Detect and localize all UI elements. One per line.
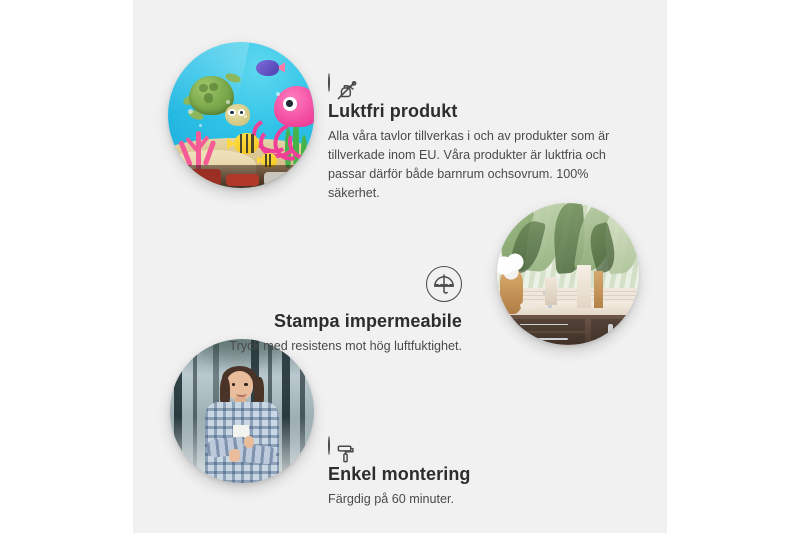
octopus-icon	[256, 86, 314, 153]
feature-title: Stampa impermeabile	[200, 311, 462, 332]
bottle-tall-icon	[577, 265, 591, 308]
image-woman-paint-roller	[170, 339, 314, 483]
paint-roller-icon	[328, 437, 578, 455]
bottle-icon	[545, 277, 556, 305]
feature-block-waterproof-print: Stampa impermeabile Tryck med resistens …	[200, 266, 462, 356]
foreground-band	[168, 165, 314, 188]
woman-figure	[202, 371, 283, 483]
feature-block-odour-free: Luktfri produkt Alla våra tavlor tillver…	[328, 74, 620, 204]
forest-scene	[170, 339, 314, 483]
umbrella-icon	[200, 266, 462, 302]
flowers-icon	[497, 251, 528, 279]
bottle-amber-icon	[594, 271, 604, 308]
no-spray-bottle-icon	[328, 74, 620, 92]
feature-title: Luktfri produkt	[328, 101, 620, 122]
yellow-fish-icon	[234, 133, 259, 155]
feature-body: Färgdig på 60 minuter.	[328, 490, 578, 509]
underwater-scene	[168, 42, 314, 188]
product-feature-banner: Luktfri produkt Alla våra tavlor tillver…	[0, 0, 800, 533]
sea-turtle-icon	[187, 76, 248, 126]
feature-title: Enkel montering	[328, 464, 578, 485]
image-bathroom-vanity	[497, 203, 639, 345]
vanity-cabinet	[497, 315, 639, 345]
blue-fish-icon	[256, 60, 279, 76]
feature-body: Tryck med resistens mot hög luftfuktighe…	[200, 337, 462, 356]
feature-block-easy-mounting: Enkel montering Färgdig på 60 minuter.	[328, 437, 578, 509]
image-underwater-mural	[168, 42, 314, 188]
feature-body: Alla våra tavlor tillverkas i och av pro…	[328, 127, 620, 204]
bathroom-scene	[497, 203, 639, 345]
